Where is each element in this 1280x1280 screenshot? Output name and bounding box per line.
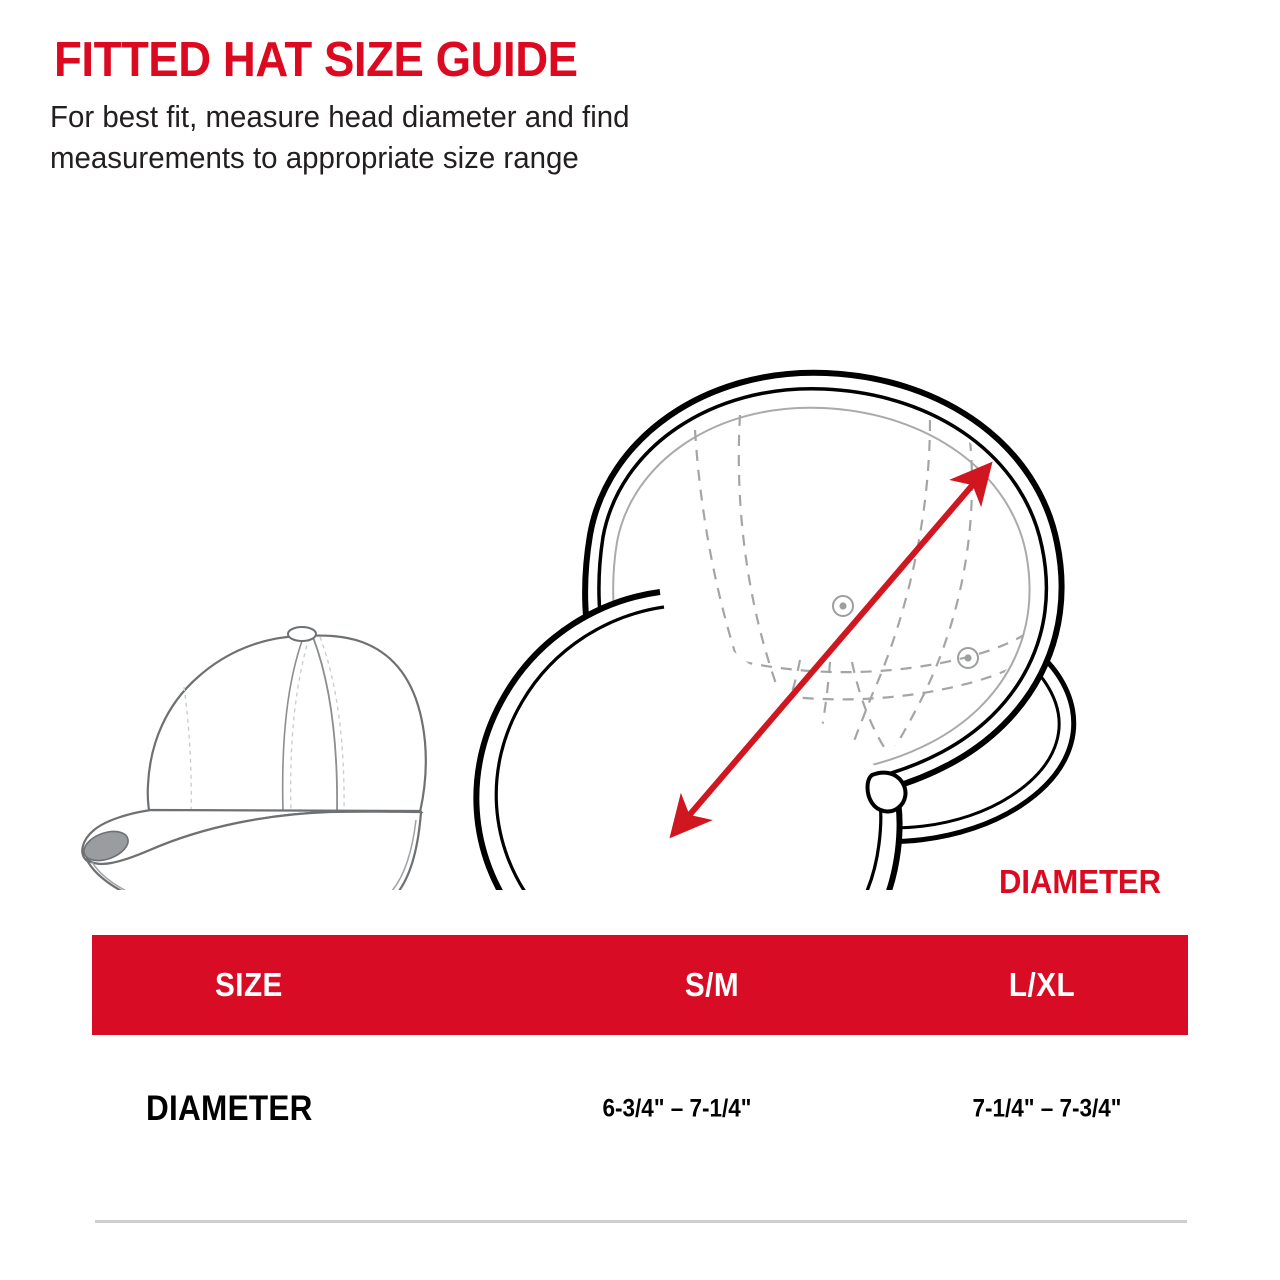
column-header-size: SIZE bbox=[215, 966, 283, 1004]
table-row: DIAMETER 6-3/4" – 7-1/4" 7-1/4" – 7-3/4" bbox=[92, 1035, 1188, 1183]
cap-crown-button bbox=[288, 627, 316, 641]
size-table-header-row: SIZE S/M L/XL bbox=[92, 935, 1188, 1035]
cell-diameter-lxl: 7-1/4" – 7-3/4" bbox=[908, 1095, 1187, 1124]
page-title: FITTED HAT SIZE GUIDE bbox=[54, 36, 578, 85]
side-view-cap: Milwaukee bbox=[80, 627, 426, 890]
hat-illustration-svg: Milwaukee bbox=[0, 190, 1280, 890]
illustration-area: Milwaukee bbox=[0, 190, 1280, 890]
page-subtitle: For best fit, measure head diameter and … bbox=[50, 96, 905, 178]
cap-crown-outline bbox=[148, 636, 426, 819]
size-guide-page: FITTED HAT SIZE GUIDE For best fit, meas… bbox=[0, 0, 1280, 1280]
column-header-sm: S/M bbox=[613, 966, 811, 1004]
cell-diameter-sm: 6-3/4" – 7-1/4" bbox=[538, 1095, 817, 1124]
size-table: SIZE S/M L/XL DIAMETER 6-3/4" – 7-1/4" 7… bbox=[92, 935, 1188, 1183]
bottom-divider bbox=[95, 1220, 1187, 1223]
row-label-diameter: DIAMETER bbox=[146, 1089, 313, 1129]
diameter-callout-label: DIAMETER bbox=[999, 863, 1161, 901]
cap-brim-attach-tab bbox=[868, 773, 906, 812]
column-header-lxl: L/XL bbox=[943, 966, 1141, 1004]
top-view-cap bbox=[476, 373, 1073, 890]
